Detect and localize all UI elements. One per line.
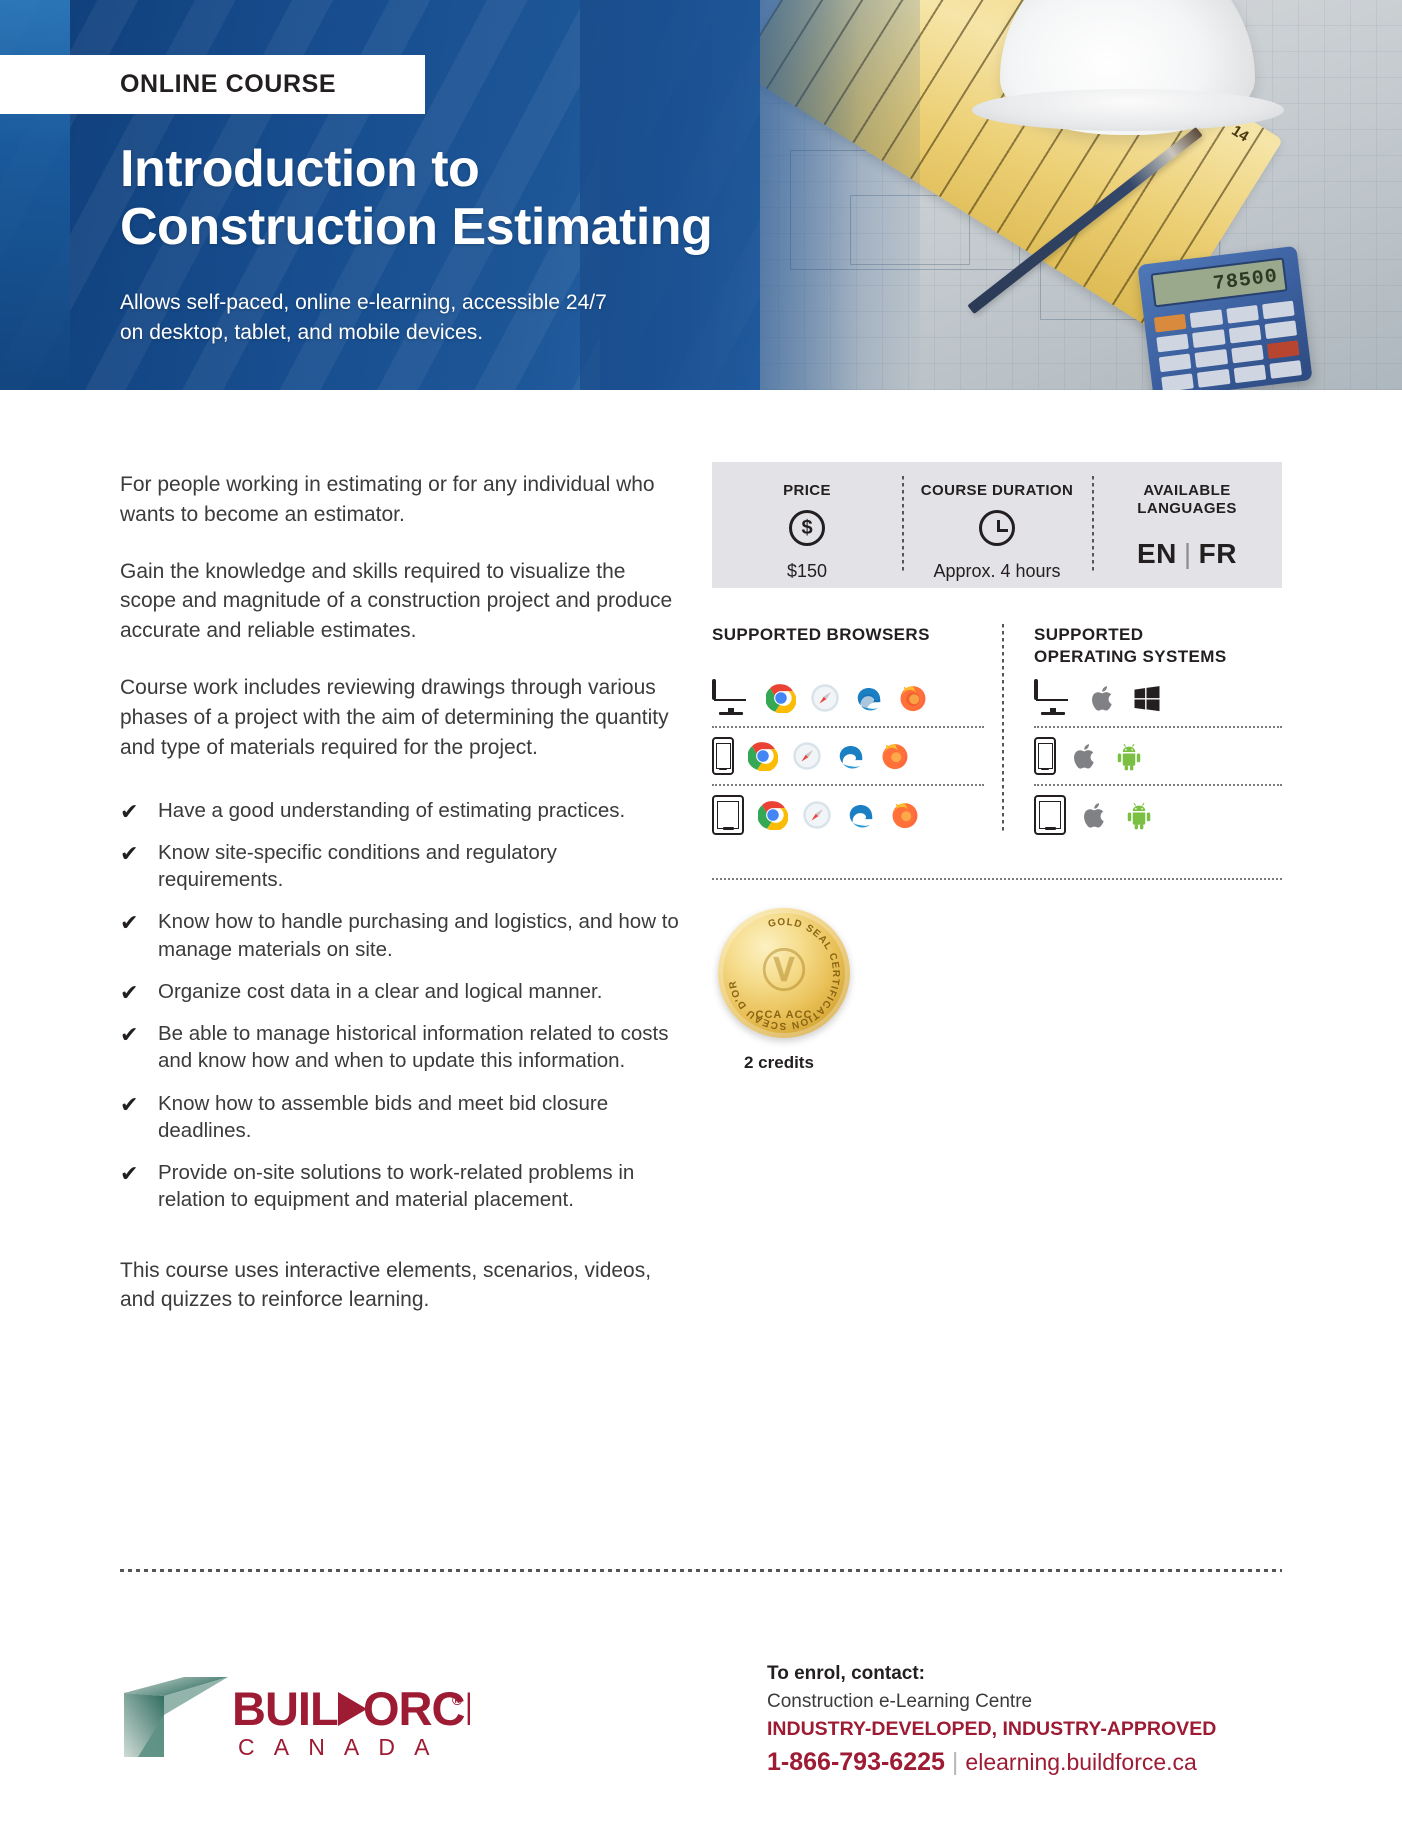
- duration-value: Approx. 4 hours: [933, 562, 1060, 580]
- chrome-icon: [758, 800, 788, 830]
- check-icon: ✔: [120, 983, 142, 1005]
- check-icon: ✔: [120, 1095, 142, 1117]
- supported-os-column: SUPPORTED OPERATING SYSTEMS: [1002, 624, 1282, 844]
- calculator-display: 78500: [1150, 257, 1287, 307]
- list-item-label: Be able to manage historical information…: [158, 1020, 680, 1075]
- languages-value: EN|FR: [1137, 540, 1237, 568]
- supported-os-heading-line2: OPERATING SYSTEMS: [1034, 646, 1282, 668]
- language-en: EN: [1137, 538, 1177, 569]
- list-item-label: Know how to assemble bids and meet bid c…: [158, 1090, 680, 1145]
- page-title-line2: Construction Estimating: [120, 198, 712, 256]
- learning-outcomes-list: ✔ Have a good understanding of estimatin…: [120, 797, 680, 1214]
- desktop-icon: [712, 681, 752, 715]
- check-icon: ✔: [120, 1164, 142, 1186]
- windows-icon: [1132, 683, 1162, 713]
- tech-requirements: SUPPORTED BROWSERS: [712, 624, 1282, 844]
- contact-block: To enrol, contact: Construction e-Learni…: [767, 1660, 1287, 1781]
- page-title: Introduction to Construction Estimating: [120, 140, 712, 256]
- hero-subtitle-line1: Allows self-paced, online e-learning, ac…: [120, 288, 760, 318]
- contact-heading: To enrol, contact:: [767, 1660, 1287, 1688]
- calculator-icon: 78500: [1137, 246, 1312, 390]
- gold-seal-monogram: Ⓥ: [762, 950, 806, 994]
- course-info-box: PRICE $ $150 COURSE DURATION Approx. 4 h…: [712, 462, 1282, 588]
- apple-icon: [1070, 741, 1100, 771]
- browser-row-phone: [712, 728, 984, 786]
- svg-text:®: ®: [452, 1692, 463, 1708]
- logo-text-force: ORCE: [363, 1682, 470, 1735]
- chrome-icon: [748, 741, 778, 771]
- language-fr: FR: [1199, 538, 1237, 569]
- list-item: ✔ Know how to assemble bids and meet bid…: [120, 1090, 680, 1145]
- android-icon: [1124, 800, 1154, 830]
- closing-paragraph: This course uses interactive elements, s…: [120, 1256, 680, 1316]
- supported-browsers-column: SUPPORTED BROWSERS: [712, 624, 1002, 844]
- clock-icon: [979, 510, 1015, 546]
- languages-label-line1: AVAILABLE: [1143, 482, 1230, 500]
- svg-text:C A N A D A: C A N A D A: [238, 1734, 436, 1760]
- dollar-circle-icon: $: [789, 510, 825, 546]
- android-icon: [1114, 741, 1144, 771]
- price-label: PRICE: [783, 482, 831, 500]
- edge-icon: [854, 683, 884, 713]
- gold-seal-section: GOLD SEAL CERTIFICATION SCEAU D'OR Ⓥ CCA…: [712, 878, 1282, 1071]
- dollar-glyph: $: [801, 518, 812, 538]
- logo-registered-mark: ®: [452, 1692, 463, 1708]
- os-row-tablet: [1034, 786, 1282, 844]
- apple-icon: [1088, 683, 1118, 713]
- list-item-label: Know how to handle purchasing and logist…: [158, 908, 680, 963]
- apple-icon: [1080, 800, 1110, 830]
- safari-icon: [792, 741, 822, 771]
- tablet-icon: [1034, 795, 1066, 835]
- credits-label: 2 credits: [744, 1054, 1282, 1071]
- os-row-desktop: [1034, 670, 1282, 728]
- firefox-icon: [880, 741, 910, 771]
- chrome-icon: [766, 683, 796, 713]
- coursework-paragraph: Course work includes reviewing drawings …: [120, 673, 680, 762]
- languages-cell: AVAILABLE LANGUAGES EN|FR: [1092, 462, 1282, 588]
- right-column: PRICE $ $150 COURSE DURATION Approx. 4 h…: [712, 462, 1282, 1071]
- firefox-icon: [898, 683, 928, 713]
- edge-icon: [846, 800, 876, 830]
- check-icon: ✔: [120, 802, 142, 824]
- safari-icon: [802, 800, 832, 830]
- page-title-line1: Introduction to: [120, 140, 712, 198]
- supported-browsers-heading: SUPPORTED BROWSERS: [712, 624, 984, 670]
- list-item-label: Know site-specific conditions and regula…: [158, 839, 680, 894]
- price-value: $150: [787, 562, 827, 580]
- logo-text-canada: C A N A D A: [238, 1734, 436, 1760]
- tablet-icon: [712, 795, 744, 835]
- contact-divider: |: [945, 1748, 966, 1776]
- supported-os-heading-line1: SUPPORTED: [1034, 624, 1282, 646]
- contact-phone-number[interactable]: 1-866-793-6225: [767, 1748, 945, 1776]
- safari-icon: [810, 683, 840, 713]
- firefox-icon: [890, 800, 920, 830]
- supported-os-heading: SUPPORTED OPERATING SYSTEMS: [1034, 624, 1282, 670]
- hard-hat-icon: [1000, 0, 1255, 135]
- edge-icon: [836, 741, 866, 771]
- hero-subtitle-line2: on desktop, tablet, and mobile devices.: [120, 318, 760, 348]
- gold-seal-bottom-label: CCA ACC: [718, 1010, 850, 1021]
- check-icon: ✔: [120, 1025, 142, 1047]
- eyebrow-badge: ONLINE COURSE: [0, 55, 425, 114]
- price-cell: PRICE $ $150: [712, 462, 902, 588]
- contact-organization: Construction e-Learning Centre: [767, 1688, 1287, 1716]
- left-column: For people working in estimating or for …: [120, 470, 680, 1342]
- knowledge-paragraph: Gain the knowledge and skills required t…: [120, 557, 680, 646]
- buildforce-logo: BUIL ORCE ® C A N A D A: [120, 1663, 470, 1768]
- buildforce-logo-svg: BUIL ORCE ® C A N A D A: [120, 1663, 470, 1768]
- phone-icon: [712, 737, 734, 775]
- gold-seal-badge: GOLD SEAL CERTIFICATION SCEAU D'OR Ⓥ CCA…: [718, 908, 850, 1038]
- list-item: ✔ Organize cost data in a clear and logi…: [120, 978, 680, 1005]
- list-item: ✔ Be able to manage historical informati…: [120, 1020, 680, 1075]
- svg-text:ORCE: ORCE: [363, 1682, 470, 1735]
- intro-paragraph: For people working in estimating or for …: [120, 470, 680, 530]
- os-row-phone: [1034, 728, 1282, 786]
- contact-website-url[interactable]: elearning.buildforce.ca: [965, 1749, 1196, 1775]
- logo-text-build: BUIL: [232, 1682, 338, 1735]
- browser-row-tablet: [712, 786, 984, 844]
- list-item-label: Have a good understanding of estimating …: [158, 797, 625, 824]
- svg-text:BUIL: BUIL: [232, 1682, 338, 1735]
- duration-label: COURSE DURATION: [921, 482, 1073, 500]
- hero-subtitle: Allows self-paced, online e-learning, ac…: [120, 288, 760, 349]
- check-icon: ✔: [120, 844, 142, 866]
- check-icon: ✔: [120, 913, 142, 935]
- list-item: ✔ Have a good understanding of estimatin…: [120, 797, 680, 824]
- list-item: ✔ Know how to handle purchasing and logi…: [120, 908, 680, 963]
- hero-banner: 2 4 6 8 10 12 14 78500: [0, 0, 1402, 390]
- calculator-keys: [1154, 301, 1302, 390]
- course-flyer-page: 2 4 6 8 10 12 14 78500: [0, 0, 1402, 1821]
- languages-label-line2: LANGUAGES: [1137, 500, 1236, 518]
- duration-cell: COURSE DURATION Approx. 4 hours: [902, 462, 1092, 588]
- list-item-label: Provide on-site solutions to work-relate…: [158, 1159, 680, 1214]
- language-separator: |: [1177, 538, 1199, 569]
- footer-divider: [120, 1569, 1282, 1572]
- desktop-icon: [1034, 681, 1074, 715]
- browser-row-desktop: [712, 670, 984, 728]
- contact-phone-line: 1-866-793-6225|elearning.buildforce.ca: [767, 1744, 1287, 1780]
- list-item: ✔ Know site-specific conditions and regu…: [120, 839, 680, 894]
- contact-tagline: INDUSTRY-DEVELOPED, INDUSTRY-APPROVED: [767, 1715, 1287, 1744]
- list-item-label: Organize cost data in a clear and logica…: [158, 978, 602, 1005]
- list-item: ✔ Provide on-site solutions to work-rela…: [120, 1159, 680, 1214]
- phone-icon: [1034, 737, 1056, 775]
